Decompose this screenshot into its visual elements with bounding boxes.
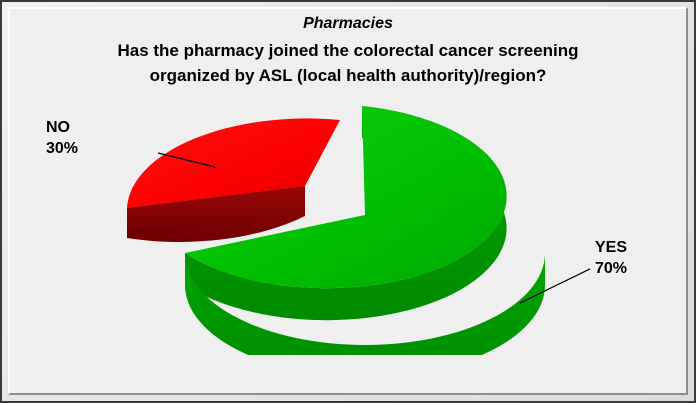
slice-label-yes-name: YES — [595, 237, 627, 258]
pie-chart — [90, 105, 590, 355]
slice-label-no: NO 30% — [46, 117, 78, 159]
slice-label-no-name: NO — [46, 117, 78, 138]
pie-svg — [90, 105, 590, 355]
chart-screenshot: Pharmacies Has the pharmacy joined the c… — [0, 0, 696, 403]
slice-label-yes-value: 70% — [595, 258, 627, 279]
slice-label-yes: YES 70% — [595, 237, 627, 279]
leader-line-yes — [520, 265, 590, 303]
slice-label-no-value: 30% — [46, 138, 78, 159]
pie-slice-no — [127, 118, 340, 242]
